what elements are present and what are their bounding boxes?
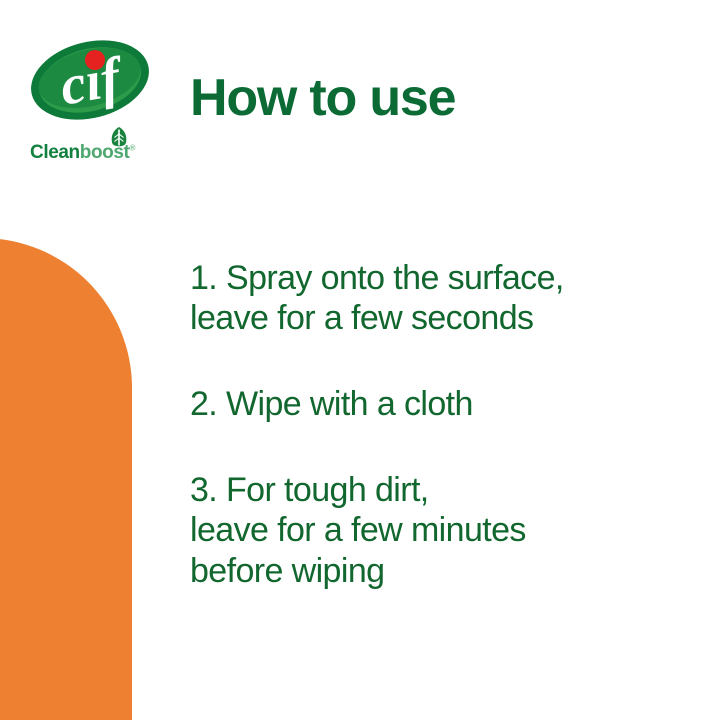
step-line: leave for a few minutes xyxy=(190,510,690,550)
step-line: before wiping xyxy=(190,551,690,591)
steps-list: 1. Spray onto the surface, leave for a f… xyxy=(190,258,690,591)
step-line: leave for a few seconds xyxy=(190,298,690,338)
how-to-use-infographic: cif Cleanboost® How to use 1. Spray onto… xyxy=(0,0,720,720)
registered-mark: ® xyxy=(129,144,135,153)
step-line: 1. Spray onto the surface, xyxy=(190,258,690,298)
cleanboost-boost-text: boost xyxy=(80,142,130,163)
cleanboost-lockup: Cleanboost® xyxy=(24,126,164,160)
page-title: How to use xyxy=(190,71,455,126)
step-item-1: 1. Spray onto the surface, leave for a f… xyxy=(190,258,690,338)
step-item-3: 3. For tough dirt, leave for a few minut… xyxy=(190,470,690,590)
cleanboost-wordmark: Cleanboost® xyxy=(30,143,135,162)
step-item-2: 2. Wipe with a cloth xyxy=(190,384,690,424)
cif-logo-badge: cif xyxy=(28,38,152,122)
step-line: 2. Wipe with a cloth xyxy=(190,384,690,424)
cleanboost-clean-text: Clean xyxy=(30,142,80,163)
step-line: 3. For tough dirt, xyxy=(190,470,690,510)
orange-rounded-shape xyxy=(0,238,132,720)
cif-logo: cif Cleanboost® xyxy=(24,38,164,160)
